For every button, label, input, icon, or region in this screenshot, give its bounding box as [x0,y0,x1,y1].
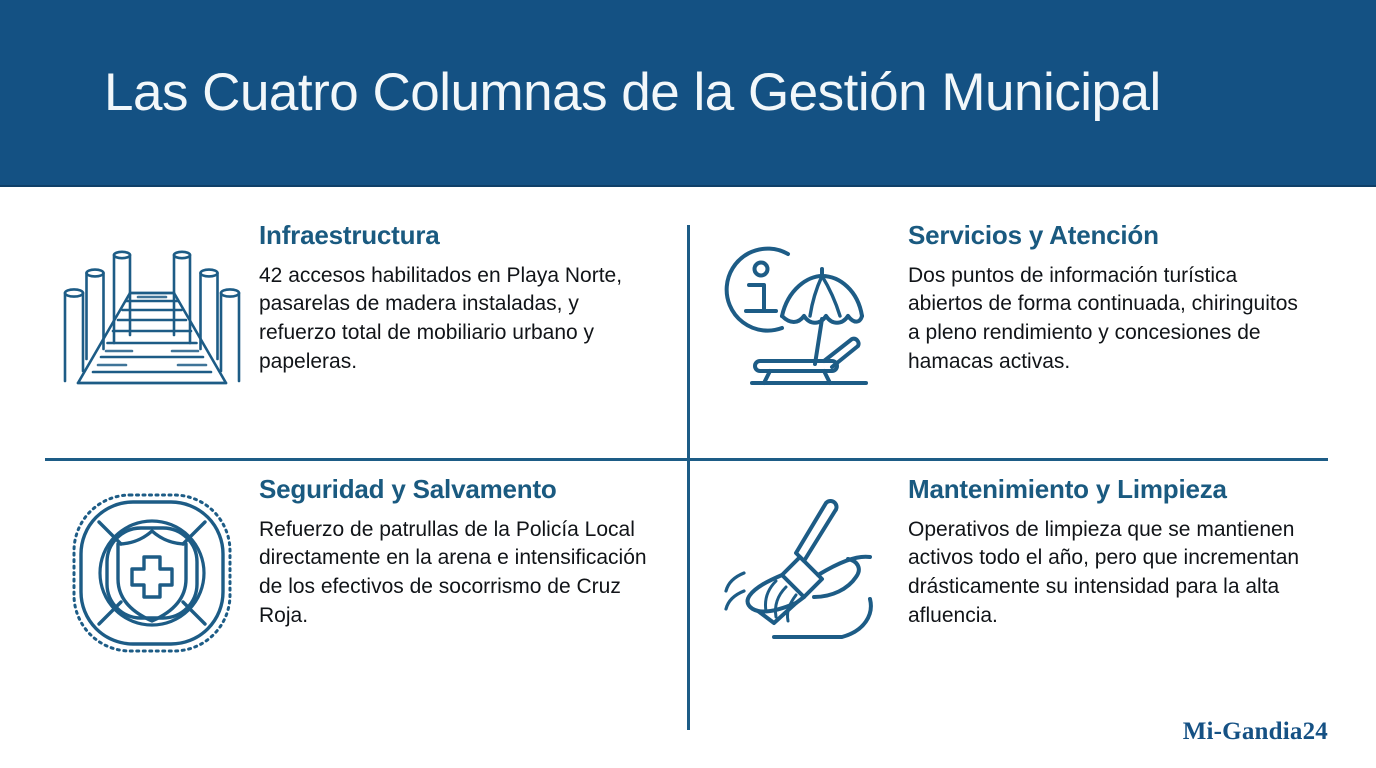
icon-container [700,221,908,399]
card-body-mantenimiento-y-limpieza: Operativos de limpieza que se mantienen … [908,516,1308,630]
card-infraestructura: Infraestructura 42 accesos habilitados e… [45,221,675,406]
card-servicios-y-atencion: Servicios y Atención Dos puntos de infor… [700,221,1340,399]
watermark-brand: Mi-Gandia24 [1183,718,1328,746]
card-title-seguridad-y-salvamento: Seguridad y Salvamento [259,475,675,505]
card-body-servicios-y-atencion: Dos puntos de información turística abie… [908,262,1308,376]
quadrant-board: Infraestructura 42 accesos habilitados e… [0,187,1376,768]
page-title: Las Cuatro Columnas de la Gestión Munici… [104,65,1161,121]
card-text: Infraestructura 42 accesos habilitados e… [259,221,675,376]
card-title-servicios-y-atencion: Servicios y Atención [908,221,1340,251]
pier-boardwalk-icon [62,231,242,406]
card-title-mantenimiento-y-limpieza: Mantenimiento y Limpieza [908,475,1340,505]
card-text: Seguridad y Salvamento Refuerzo de patru… [259,475,675,630]
divider-vertical [687,225,690,730]
card-seguridad-y-salvamento: Seguridad y Salvamento Refuerzo de patru… [45,475,675,661]
beach-info-umbrella-icon [716,231,892,399]
icon-container [45,221,259,406]
divider-horizontal [45,458,1328,461]
header-band: Las Cuatro Columnas de la Gestión Munici… [0,0,1376,187]
icon-container [45,475,259,661]
card-text: Servicios y Atención Dos puntos de infor… [908,221,1340,376]
icon-container [700,475,908,655]
broom-sweeping-icon [714,485,894,655]
card-body-seguridad-y-salvamento: Refuerzo de patrullas de la Policía Loca… [259,516,651,630]
lifebuoy-shield-cross-icon [64,485,240,661]
card-body-infraestructura: 42 accesos habilitados en Playa Norte, p… [259,262,651,376]
card-mantenimiento-y-limpieza: Mantenimiento y Limpieza Operativos de l… [700,475,1340,655]
card-text: Mantenimiento y Limpieza Operativos de l… [908,475,1340,630]
card-title-infraestructura: Infraestructura [259,221,675,251]
